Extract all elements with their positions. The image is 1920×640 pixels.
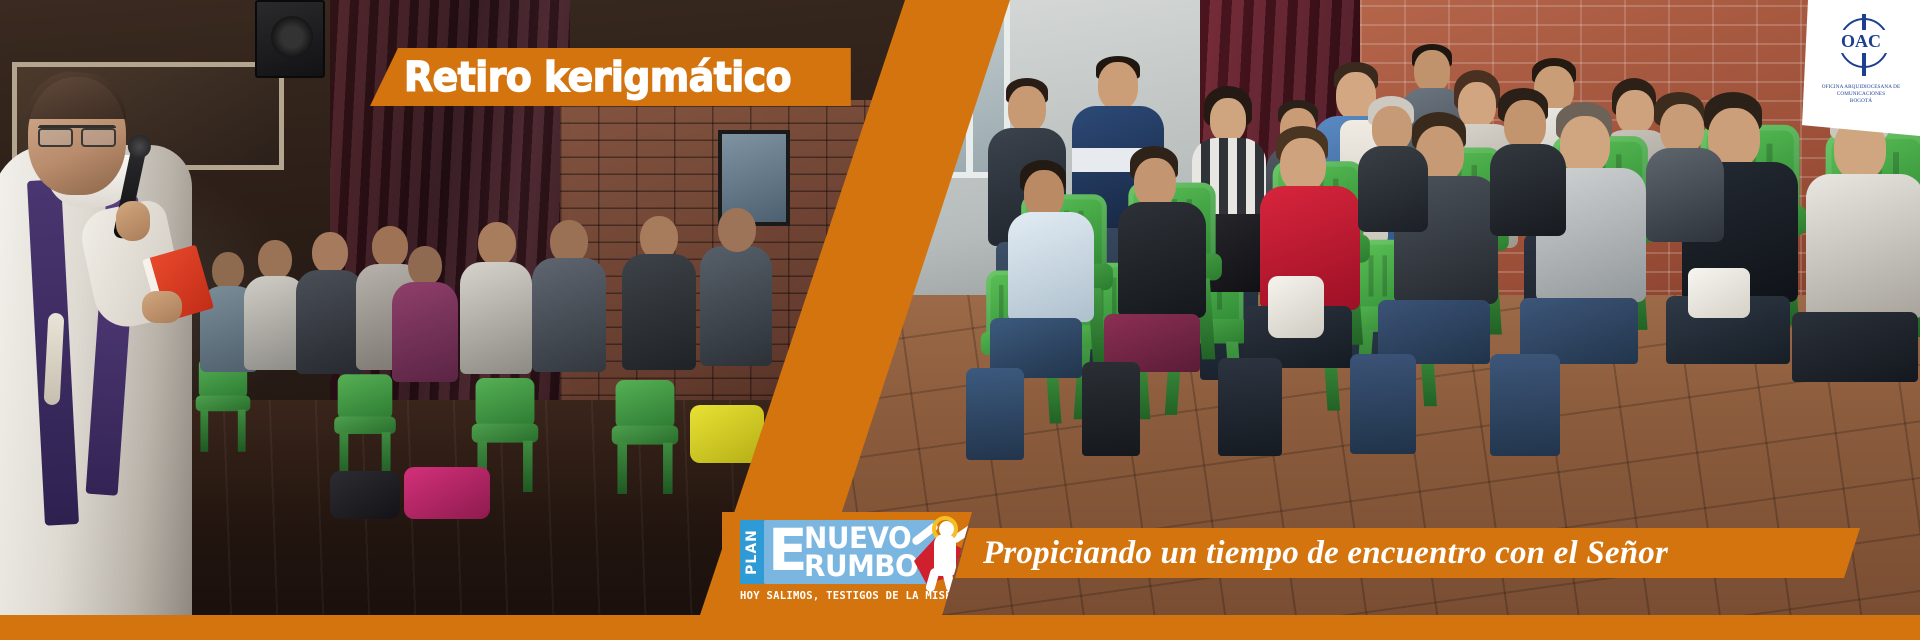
left-yellow-bag bbox=[690, 405, 764, 463]
logo-wordmark: NUEVO RUMBO bbox=[804, 524, 918, 580]
oac-subtitle-line1: OFICINA ARQUIDIOCESANA DE bbox=[1802, 84, 1920, 91]
oac-subtitle-line2: COMUNICACIONES bbox=[1802, 91, 1920, 98]
left-green-chair bbox=[612, 380, 679, 494]
oac-logo[interactable]: OAC OFICINA ARQUIDIOCESANA DE COMUNICACI… bbox=[1802, 0, 1920, 136]
logo-word-rumbo: RUMBO bbox=[804, 552, 918, 580]
title-banner: Retiro kerigmático bbox=[370, 48, 851, 106]
tagline-text: Propiciando un tiempo de encuentro con e… bbox=[983, 535, 1668, 572]
priest-hair bbox=[26, 71, 126, 119]
oac-cross-circle-icon: OAC bbox=[1822, 14, 1900, 78]
bottom-accent-bar bbox=[0, 615, 1920, 640]
priest-hand-holding-mic bbox=[116, 201, 150, 241]
logo-plan-tab: PLAN bbox=[740, 520, 764, 584]
left-pink-bag bbox=[404, 467, 490, 519]
left-green-chair bbox=[334, 374, 396, 480]
logo-word-nuevo: NUEVO bbox=[804, 524, 918, 552]
priest-figure bbox=[0, 55, 202, 615]
priest-eyeglasses bbox=[38, 125, 116, 140]
priest-hand-holding-booklet bbox=[142, 291, 182, 323]
left-green-chair bbox=[196, 358, 251, 452]
plan-nuevo-rumbo-logo[interactable]: PLAN E NUEVO RUMBO HOY SALIMOS, TESTIGOS… bbox=[722, 512, 972, 616]
tagline-bar: Propiciando un tiempo de encuentro con e… bbox=[955, 528, 1860, 578]
left-black-bag bbox=[330, 471, 400, 519]
left-ceiling-speaker bbox=[255, 0, 325, 78]
logo-letter-e: E bbox=[768, 524, 802, 580]
retreat-banner: Retiro kerigmático PLAN E NUEVO RUMBO bbox=[0, 0, 1920, 640]
logo-plan-text: PLAN bbox=[744, 529, 760, 575]
oac-subtitle-line3: BOGOTÁ bbox=[1802, 98, 1920, 105]
oac-acronym: OAC bbox=[1822, 30, 1900, 53]
page-title: Retiro kerigmático bbox=[404, 57, 791, 98]
